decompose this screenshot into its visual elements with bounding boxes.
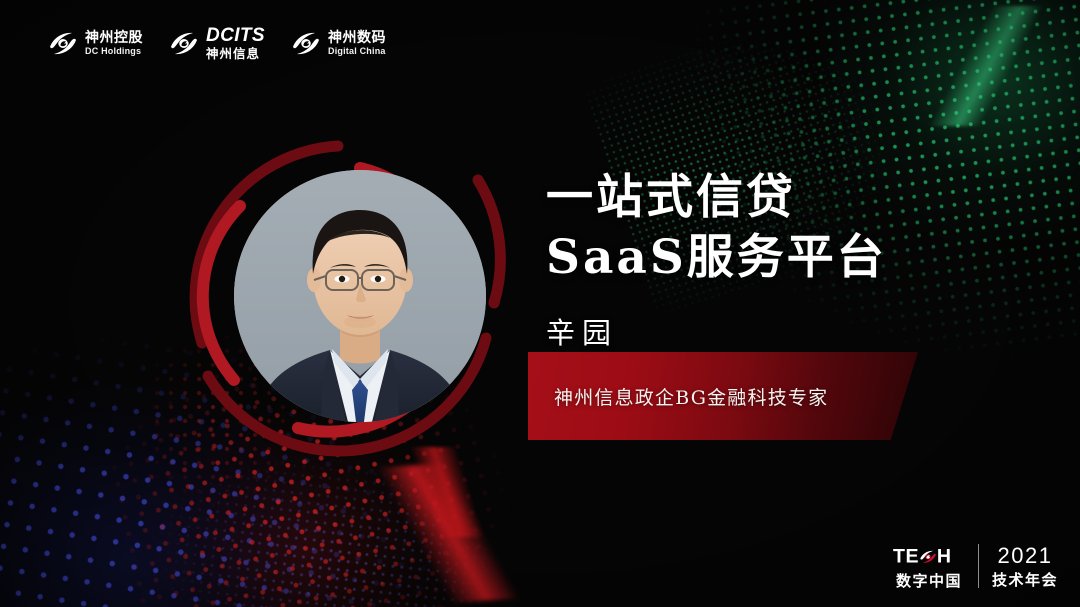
logo-dc-holdings: 神州控股 DC Holdings: [48, 30, 143, 56]
event-year: 2021: [998, 545, 1053, 567]
logo-dcits: DCITS 神州信息: [169, 26, 265, 61]
logo-digital-china-cn: 神州数码: [328, 30, 386, 44]
svg-text:T: T: [893, 545, 905, 566]
svg-text:E: E: [906, 545, 919, 566]
logo-digital-china-en: Digital China: [328, 47, 386, 56]
svg-text:H: H: [937, 545, 951, 566]
logo-dcits-cn: 神州信息: [206, 48, 265, 61]
logo-digital-china: 神州数码 Digital China: [291, 30, 386, 56]
logo-dc-holdings-cn: 神州控股: [85, 30, 143, 44]
slide-text-block: 一站式信贷 SaaS服务平台 辛园: [546, 168, 966, 352]
event-logo: T E H 数字中国 2021 技术年会: [893, 543, 1058, 589]
speaker-photo: [234, 170, 486, 422]
slide-title-line-1: 一站式信贷: [546, 168, 966, 228]
dc-swirl-logo-icon: [291, 30, 321, 56]
event-logo-left: T E H 数字中国: [893, 543, 965, 589]
event-logo-subtitle: 数字中国: [896, 574, 962, 589]
event-logo-right: 2021 技术年会: [992, 545, 1058, 588]
logo-dcits-en: DCITS: [206, 26, 265, 45]
speaker-role-text: 神州信息政企BG金融科技专家: [528, 383, 828, 410]
event-logo-divider: [978, 544, 979, 588]
green-light-streak-icon: [880, 6, 1080, 126]
dc-swirl-logo-icon: [48, 30, 78, 56]
speaker-name: 辛园: [546, 310, 966, 352]
tech-wordmark-icon: T E H: [893, 543, 965, 568]
logo-dc-holdings-en: DC Holdings: [85, 47, 143, 56]
speaker-portrait-assembly: [178, 128, 508, 473]
red-beam-primary: [295, 453, 604, 607]
presentation-slide: 神州控股 DC Holdings DCITS 神州信息: [0, 0, 1080, 607]
logo-digital-china-text: 神州数码 Digital China: [328, 30, 386, 56]
dc-swirl-logo-icon: [169, 30, 199, 56]
corporate-logo-bar: 神州控股 DC Holdings DCITS 神州信息: [48, 26, 386, 61]
logo-dc-holdings-text: 神州控股 DC Holdings: [85, 30, 143, 56]
speaker-role-banner: 神州信息政企BG金融科技专家: [528, 352, 918, 440]
logo-dcits-text: DCITS 神州信息: [206, 26, 265, 61]
event-year-subtitle: 技术年会: [992, 573, 1058, 588]
slide-title-line-2: SaaS服务平台: [546, 228, 966, 288]
